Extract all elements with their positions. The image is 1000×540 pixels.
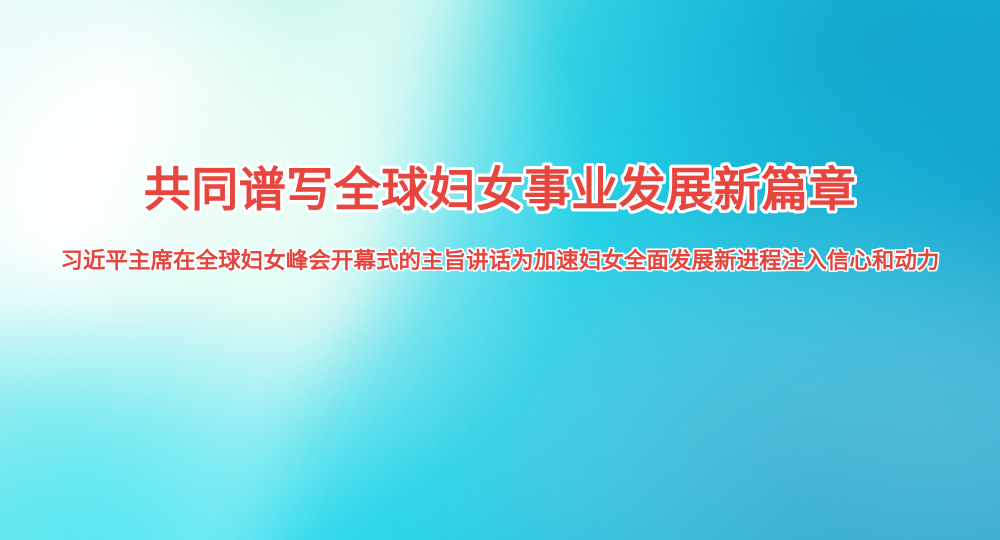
background-right-arc-decoration bbox=[300, 170, 1000, 540]
background-mint-highlight-decoration bbox=[32, 0, 509, 540]
headline-block: 共同谱写全球妇女事业发展新篇章 习近平主席在全球妇女峰会开幕式的主旨讲话为加速妇… bbox=[0, 0, 1000, 540]
news-banner: 共同谱写全球妇女事业发展新篇章 习近平主席在全球妇女峰会开幕式的主旨讲话为加速妇… bbox=[0, 0, 1000, 540]
background-shade-topright-decoration bbox=[520, 0, 1000, 290]
banner-main-title: 共同谱写全球妇女事业发展新篇章 bbox=[0, 160, 1000, 222]
background-shade-bottomright-decoration bbox=[440, 210, 1000, 540]
background-glow-core-decoration bbox=[0, 0, 400, 440]
background-mint-ray-decoration bbox=[0, 0, 591, 540]
banner-sub-title: 习近平主席在全球妇女峰会开幕式的主旨讲话为加速妇女全面发展新进程注入信心和动力 bbox=[0, 245, 1000, 277]
background-glow-topleft-decoration bbox=[0, 0, 590, 540]
background-cyan-pool-decoration bbox=[0, 280, 500, 540]
